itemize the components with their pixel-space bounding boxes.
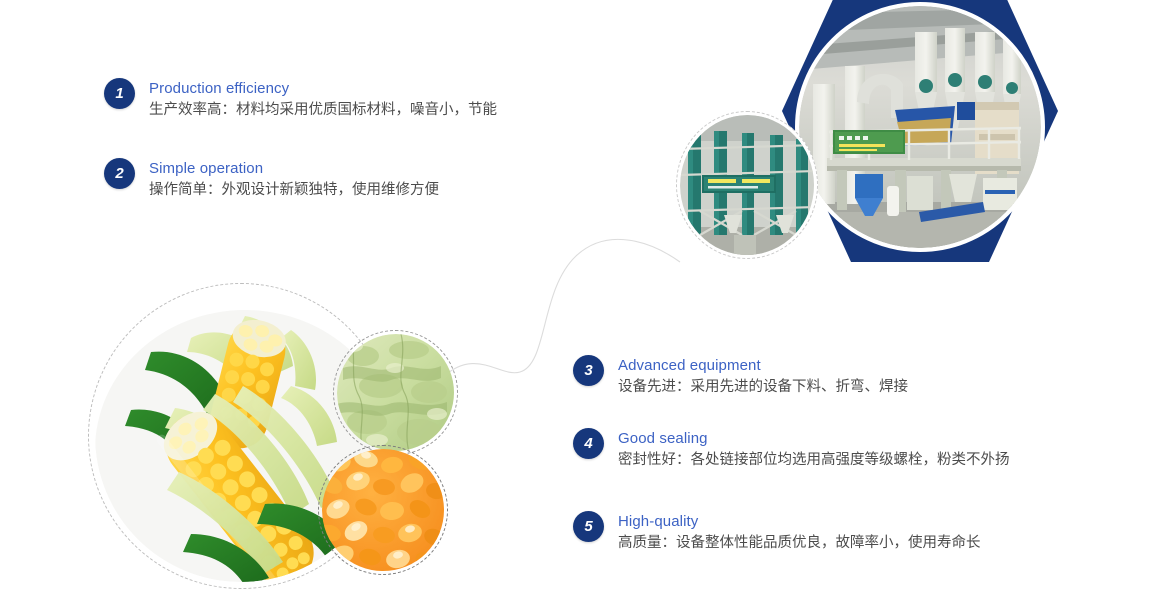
produce-media-cluster (88, 283, 458, 591)
feature-badge-1: 1 (104, 78, 135, 109)
feature-heading-1: Production efficiency (149, 79, 497, 98)
feature-heading-5: High-quality (618, 512, 981, 531)
hero-media-cluster (660, 0, 1154, 270)
feature-heading-3: Advanced equipment (618, 356, 908, 375)
feature-badge-2: 2 (104, 158, 135, 189)
feature-text-2: Simple operation 操作简单：外观设计新颖独特，使用维修方便 (149, 158, 439, 201)
corn-kernels-photo (318, 445, 448, 575)
feature-text-1: Production efficiency 生产效率高：材料均采用优质国标材料，… (149, 78, 497, 121)
feature-item-4: 4 Good sealing 密封性好：各处链接部位均选用高强度等级螺栓，粉类不… (573, 428, 1010, 471)
feature-subtitle-4: 密封性好：各处链接部位均选用高强度等级螺栓，粉类不外扬 (618, 449, 1010, 471)
flour-milling-plant-photo (795, 2, 1045, 252)
feature-item-5: 5 High-quality 高质量：设备整体性能品质优良，故障率小，使用寿命长 (573, 511, 981, 554)
feature-item-1: 1 Production efficiency 生产效率高：材料均采用优质国标材… (104, 78, 497, 121)
feature-item-2: 2 Simple operation 操作简单：外观设计新颖独特，使用维修方便 (104, 158, 439, 201)
feature-panel: 1 Production efficiency 生产效率高：材料均采用优质国标材… (0, 0, 1154, 591)
feature-subtitle-5: 高质量：设备整体性能品质优良，故障率小，使用寿命长 (618, 532, 981, 554)
feature-text-3: Advanced equipment 设备先进：采用先进的设备下料、折弯、焊接 (618, 355, 908, 398)
feature-badge-4: 4 (573, 428, 604, 459)
feature-subtitle-3: 设备先进：采用先进的设备下料、折弯、焊接 (618, 376, 908, 398)
green-corn-paste-photo (333, 330, 458, 455)
feature-heading-2: Simple operation (149, 159, 439, 178)
feature-badge-3: 3 (573, 355, 604, 386)
feature-item-3: 3 Advanced equipment 设备先进：采用先进的设备下料、折弯、焊… (573, 355, 908, 398)
feature-subtitle-1: 生产效率高：材料均采用优质国标材料，噪音小，节能 (149, 99, 497, 121)
feature-subtitle-2: 操作简单：外观设计新颖独特，使用维修方便 (149, 179, 439, 201)
feature-badge-5: 5 (573, 511, 604, 542)
teal-milling-equipment-photo (676, 111, 818, 259)
feature-heading-4: Good sealing (618, 429, 1010, 448)
feature-text-4: Good sealing 密封性好：各处链接部位均选用高强度等级螺栓，粉类不外扬 (618, 428, 1010, 471)
feature-text-5: High-quality 高质量：设备整体性能品质优良，故障率小，使用寿命长 (618, 511, 981, 554)
